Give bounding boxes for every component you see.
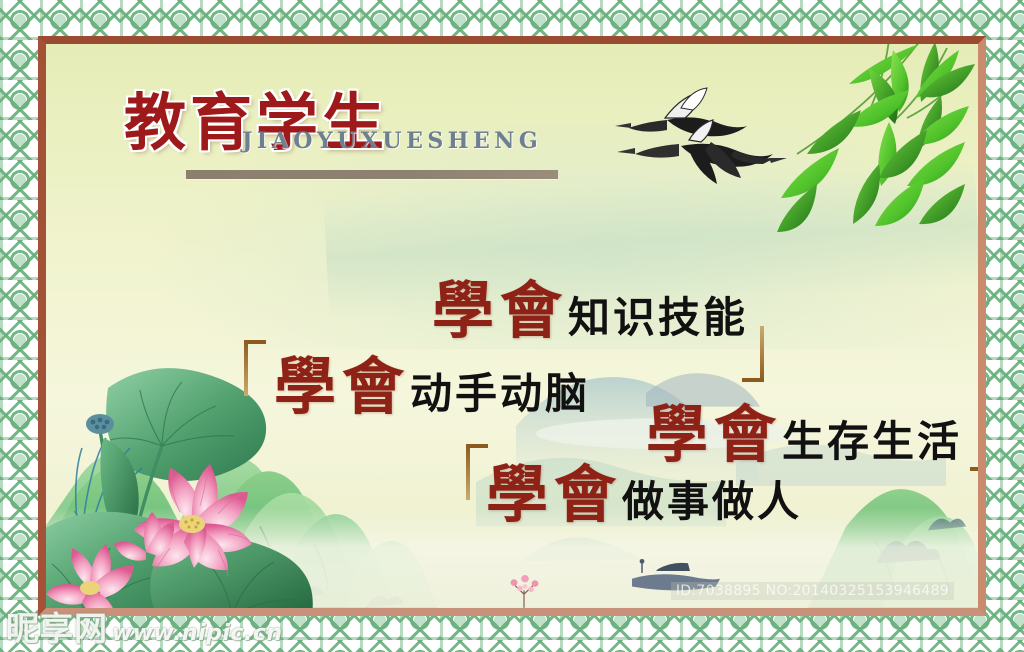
title-underline-bar xyxy=(186,170,558,179)
image-id-watermark: ID:7038895 NO:20140325153946489 xyxy=(671,582,954,600)
slogan-tail-4: 做事做人 xyxy=(622,477,802,526)
slogan-tail-1: 知识技能 xyxy=(568,293,748,342)
bracket-open-left-2 xyxy=(466,444,492,504)
slogan-lead-4: 學會 xyxy=(486,458,622,531)
slogan-lead-1: 學會 xyxy=(432,274,568,347)
slogan-lead-2: 學會 xyxy=(274,350,410,423)
bracket-close-right-1 xyxy=(738,322,764,382)
slogan-tail-3: 生存生活 xyxy=(782,417,962,466)
title-pinyin: JIAOYUXUESHENG xyxy=(242,128,542,154)
slogan-tail-2: 动手动脑 xyxy=(410,369,590,418)
slogan-line-3: 學會生存生活 xyxy=(646,404,962,466)
slogan-line-1: 學會知识技能 xyxy=(432,280,748,342)
bracket-close-right-2 xyxy=(966,409,978,471)
bamboo-illustration xyxy=(769,44,978,239)
crane-upper xyxy=(615,88,747,136)
bracket-open-left-1 xyxy=(244,340,270,400)
slogan-line-4: 學會做事做人 xyxy=(486,464,802,526)
poster-canvas: 教育学生 JIAOYUXUESHENG 學會知识技能 學會动手动脑 學會生存生活… xyxy=(46,44,978,608)
crane-illustration xyxy=(615,84,795,204)
slogan-line-2: 學會动手动脑 xyxy=(274,356,590,418)
slogan-lead-3: 學會 xyxy=(646,398,782,471)
wooden-frame: 教育学生 JIAOYUXUESHENG 學會知识技能 學會动手动脑 學會生存生活… xyxy=(38,36,986,616)
poster-root: 教育学生 JIAOYUXUESHENG 學會知识技能 學會动手动脑 學會生存生活… xyxy=(0,0,1024,652)
